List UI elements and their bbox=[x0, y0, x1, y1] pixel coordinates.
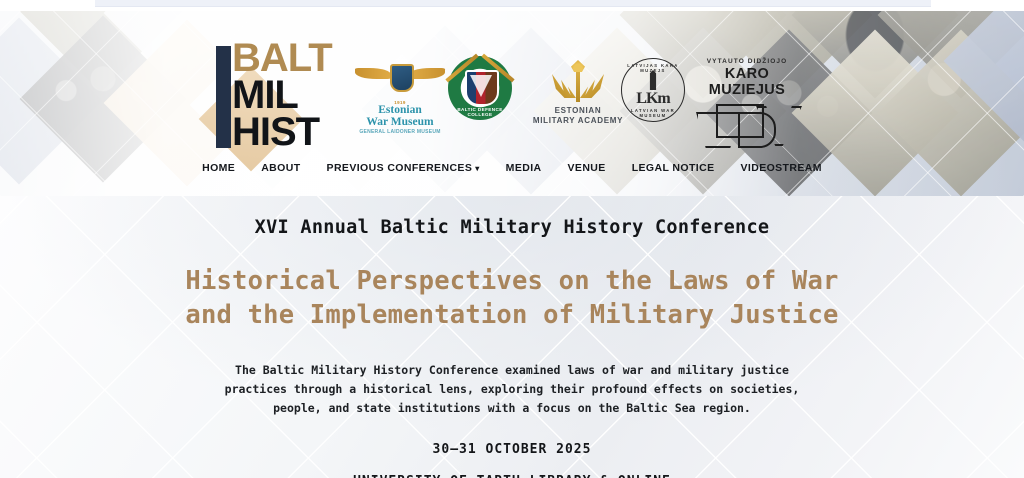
partner-logo-estonian-war-museum[interactable]: 1919 Estonian War Museum GENERAL LAIDONE… bbox=[352, 60, 448, 135]
estonian-war-museum-emblem-icon bbox=[352, 60, 448, 100]
partner-logo-estonian-military-academy[interactable]: ESTONIAN MILITARY ACADEMY bbox=[530, 62, 626, 126]
nav-label: PREVIOUS CONFERENCES bbox=[327, 162, 473, 174]
logo-line-balt: BALT bbox=[232, 40, 332, 77]
estonian-military-academy-emblem-icon bbox=[530, 62, 626, 106]
nav-item-media[interactable]: MEDIA bbox=[506, 162, 542, 174]
latvian-war-museum-monogram: LKm bbox=[622, 90, 684, 108]
latvian-war-museum-emblem-icon: LATVIJAS KARA MUZEJS LKm LATVIAN WAR MUS… bbox=[621, 58, 685, 122]
hero-content: XVI Annual Baltic Military History Confe… bbox=[0, 217, 1024, 478]
chevron-down-icon: ▾ bbox=[475, 164, 479, 173]
estonian-military-academy-name-line2: MILITARY ACADEMY bbox=[530, 116, 626, 126]
conference-date: 30–31 OCTOBER 2025 bbox=[0, 442, 1024, 457]
baltic-defence-college-emblem-icon: BALTIC DEFENCE COLLEGE bbox=[448, 56, 512, 120]
headline-line-1: Historical Perspectives on the Laws of W… bbox=[0, 265, 1024, 299]
nav-item-home[interactable]: HOME bbox=[202, 162, 235, 174]
logo-bar-icon bbox=[216, 46, 231, 148]
nav-item-about[interactable]: ABOUT bbox=[261, 162, 300, 174]
nav-item-previous-conferences[interactable]: PREVIOUS CONFERENCES▾ bbox=[327, 162, 480, 174]
page-root: BALT MIL HIST 1919 Estonian War Museum G… bbox=[0, 0, 1024, 478]
conference-description: The Baltic Military History Conference e… bbox=[212, 361, 812, 418]
logo-line-hist: HIST bbox=[232, 114, 332, 151]
hero-section: XVI Annual Baltic Military History Confe… bbox=[0, 196, 1024, 478]
vytautas-war-museum-monogram-icon bbox=[692, 100, 802, 146]
latvian-war-museum-arc-bottom: LATVIAN WAR MUSEUM bbox=[622, 108, 684, 118]
conference-venue: UNIVERSITY OF TARTU LIBRARY & ONLINE bbox=[0, 474, 1024, 478]
nav-label: HOME bbox=[202, 162, 235, 174]
main-navigation: HOME ABOUT PREVIOUS CONFERENCES▾ MEDIA V… bbox=[0, 155, 1024, 181]
nav-item-videostream[interactable]: VIDEOSTREAM bbox=[740, 162, 821, 174]
nav-label: MEDIA bbox=[506, 162, 542, 174]
logo-line-mil: MIL bbox=[232, 77, 332, 114]
nav-label: VENUE bbox=[568, 162, 606, 174]
conference-headline: Historical Perspectives on the Laws of W… bbox=[0, 265, 1024, 333]
browser-top-strip bbox=[0, 0, 1024, 11]
browser-top-strip-inner bbox=[95, 0, 931, 7]
partner-logo-vytautas-war-museum[interactable]: VYTAUTO DIDŽIOJO KARO MUZIEJUS bbox=[688, 58, 806, 146]
nav-item-legal-notice[interactable]: LEGAL NOTICE bbox=[632, 162, 715, 174]
partner-logo-baltic-defence-college[interactable]: BALTIC DEFENCE COLLEGE bbox=[444, 56, 516, 120]
partner-logo-latvian-war-museum[interactable]: LATVIJAS KARA MUZEJS LKm LATVIAN WAR MUS… bbox=[614, 58, 692, 122]
vytautas-war-museum-supertitle: VYTAUTO DIDŽIOJO bbox=[688, 58, 806, 65]
site-logo[interactable]: BALT MIL HIST bbox=[208, 40, 330, 152]
logo-wordmark: BALT MIL HIST bbox=[232, 40, 332, 150]
estonian-military-academy-name-line1: ESTONIAN bbox=[530, 106, 626, 116]
partner-logos: 1919 Estonian War Museum GENERAL LAIDONE… bbox=[352, 54, 802, 146]
estonian-war-museum-subtitle: GENERAL LAIDONER MUSEUM bbox=[352, 129, 448, 135]
nav-label: ABOUT bbox=[261, 162, 300, 174]
estonian-war-museum-name-line2: War Museum bbox=[352, 117, 448, 129]
vytautas-war-museum-name: KARO MUZIEJUS bbox=[688, 66, 806, 98]
latvian-war-museum-tower-icon bbox=[646, 70, 660, 90]
conference-kicker: XVI Annual Baltic Military History Confe… bbox=[0, 217, 1024, 238]
baltic-defence-college-text: BALTIC DEFENCE COLLEGE bbox=[448, 107, 512, 117]
estonian-war-museum-name-line1: Estonian bbox=[352, 105, 448, 117]
nav-label: LEGAL NOTICE bbox=[632, 162, 715, 174]
nav-label: VIDEOSTREAM bbox=[740, 162, 821, 174]
headline-line-2: and the Implementation of Military Justi… bbox=[0, 299, 1024, 333]
nav-item-venue[interactable]: VENUE bbox=[568, 162, 606, 174]
